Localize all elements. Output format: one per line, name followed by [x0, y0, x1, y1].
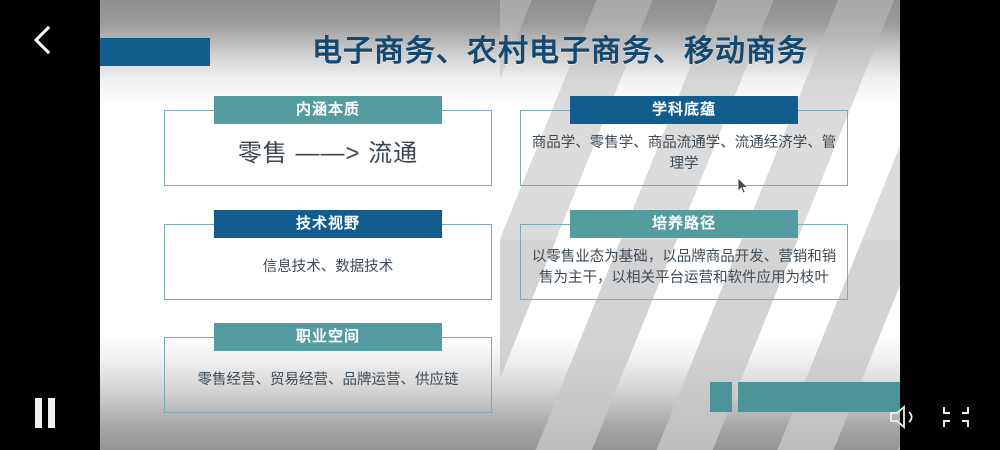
card-header-label: 内涵本质	[214, 96, 442, 124]
card-neihan-benzhi[interactable]: 内涵本质 零售 ——> 流通	[164, 96, 492, 186]
speaker-icon[interactable]	[888, 404, 920, 430]
slide-stage[interactable]: 电子商务、农村电子商务、移动商务 内涵本质 零售 ——> 流通 学科底蕴 商品学…	[100, 0, 900, 450]
exit-fullscreen-icon[interactable]	[942, 404, 970, 430]
card-header-label: 培养路径	[570, 210, 798, 238]
title-accent-tab	[100, 38, 210, 66]
pause-icon[interactable]	[32, 398, 62, 428]
footer-accent-block	[710, 382, 732, 412]
video-player: 电子商务、农村电子商务、移动商务 内涵本质 零售 ——> 流通 学科底蕴 商品学…	[0, 0, 1000, 450]
card-body-text: 零售 ——> 流通	[172, 128, 484, 180]
card-header-label: 职业空间	[214, 323, 442, 351]
card-zhiye-kongjian[interactable]: 职业空间 零售经营、贸易经营、品牌运营、供应链	[164, 323, 492, 413]
card-peiyang-lujing[interactable]: 培养路径 以零售业态为基础，以品牌商品开发、营销和销售为主干，以相关平台运营和软…	[520, 210, 848, 300]
card-body-text: 零售经营、贸易经营、品牌运营、供应链	[172, 355, 484, 407]
footer-accent-bar	[738, 382, 900, 412]
card-header-label: 技术视野	[214, 210, 442, 238]
card-jishu-shiye[interactable]: 技术视野 信息技术、数据技术	[164, 210, 492, 300]
pause-bar-left	[35, 398, 42, 428]
card-header-label: 学科底蕴	[570, 96, 798, 124]
pause-bar-right	[48, 398, 55, 428]
mouse-pointer-icon	[737, 178, 749, 194]
card-xueke-diyun[interactable]: 学科底蕴 商品学、零售学、商品流通学、流通经济学、管理学	[520, 96, 848, 186]
card-body-text: 信息技术、数据技术	[172, 242, 484, 294]
page-title: 电子商务、农村电子商务、移动商务	[230, 26, 890, 70]
card-body-text: 以零售业态为基础，以品牌商品开发、营销和销售为主干，以相关平台运营和软件应用为枝…	[528, 242, 840, 294]
card-body-text: 商品学、零售学、商品流通学、流通经济学、管理学	[528, 128, 840, 180]
chevron-left-icon[interactable]	[24, 20, 64, 60]
